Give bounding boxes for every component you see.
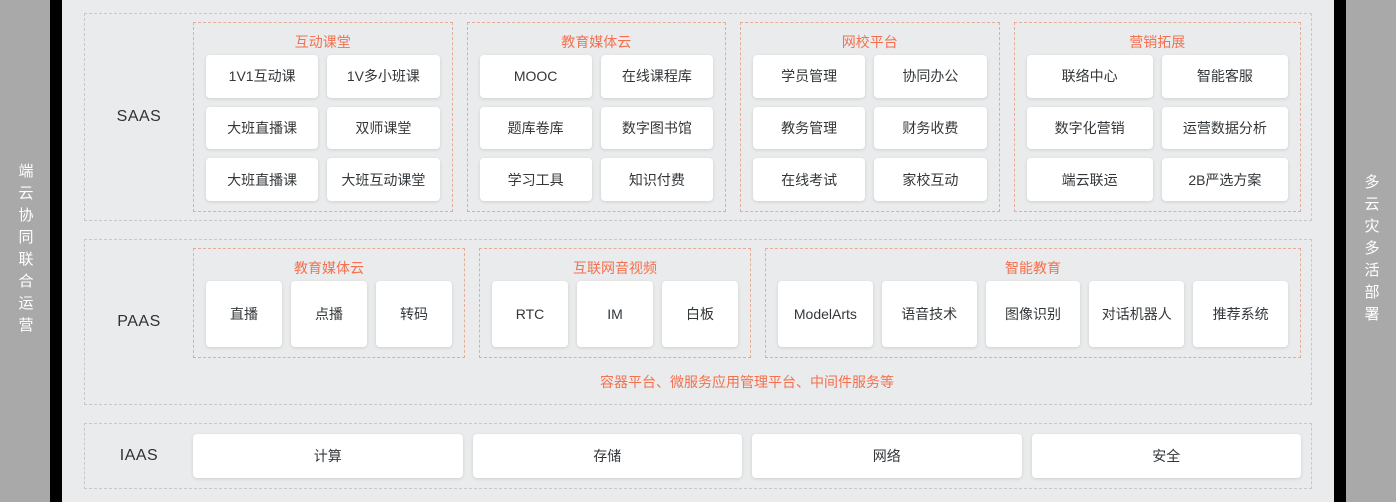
left-rail-divider bbox=[50, 0, 62, 502]
group-title: 教育媒体云 bbox=[206, 255, 452, 281]
tile[interactable]: 白板 bbox=[662, 281, 738, 347]
tile[interactable]: 运营数据分析 bbox=[1162, 107, 1288, 150]
group-education-media-cloud-saas: 教育媒体云 MOOC 在线课程库 题库卷库 数字图书馆 学习工具 知识付费 bbox=[467, 22, 727, 212]
tile[interactable]: 学习工具 bbox=[480, 158, 592, 201]
tile[interactable]: 图像识别 bbox=[986, 281, 1081, 347]
layer-saas-body: 互动课堂 1V1互动课 1V多小班课 大班直播课 双师课堂 大班直播课 大班互动… bbox=[193, 14, 1311, 220]
tile[interactable]: 大班直播课 bbox=[206, 107, 318, 150]
tile-grid: 直播 点播 转码 bbox=[206, 281, 452, 347]
tile[interactable]: 智能客服 bbox=[1162, 55, 1288, 98]
tile[interactable]: 学员管理 bbox=[753, 55, 865, 98]
tile[interactable]: 财务收费 bbox=[874, 107, 986, 150]
layer-saas: SAAS 互动课堂 1V1互动课 1V多小班课 大班直播课 双师课堂 大班直播课… bbox=[84, 13, 1312, 221]
iaas-tile-row: 计算 存储 网络 安全 bbox=[193, 424, 1311, 488]
tile[interactable]: 转码 bbox=[376, 281, 452, 347]
tile-grid: 1V1互动课 1V多小班课 大班直播课 双师课堂 大班直播课 大班互动课堂 bbox=[206, 55, 440, 201]
tile[interactable]: 联络中心 bbox=[1027, 55, 1153, 98]
group-title: 网校平台 bbox=[753, 29, 987, 55]
tile[interactable]: IM bbox=[577, 281, 653, 347]
layer-stack: SAAS 互动课堂 1V1互动课 1V多小班课 大班直播课 双师课堂 大班直播课… bbox=[62, 0, 1334, 502]
tile[interactable]: 对话机器人 bbox=[1089, 281, 1184, 347]
tile[interactable]: 网络 bbox=[752, 434, 1022, 478]
tile[interactable]: 教务管理 bbox=[753, 107, 865, 150]
group-title: 互联网音视频 bbox=[492, 255, 738, 281]
tile[interactable]: 在线课程库 bbox=[601, 55, 713, 98]
right-rail: 多云灾多活部署 bbox=[1346, 0, 1396, 502]
left-rail: 端云协同联合运营 bbox=[0, 0, 50, 502]
layer-iaas-label: IAAS bbox=[85, 424, 193, 488]
paas-group-row: 教育媒体云 直播 点播 转码 互联网音视频 RTC IM 白板 bbox=[193, 240, 1311, 362]
tile-grid: 学员管理 协同办公 教务管理 财务收费 在线考试 家校互动 bbox=[753, 55, 987, 201]
tile[interactable]: 推荐系统 bbox=[1193, 281, 1288, 347]
layer-saas-label: SAAS bbox=[85, 14, 193, 220]
tile-grid: RTC IM 白板 bbox=[492, 281, 738, 347]
tile-grid: MOOC 在线课程库 题库卷库 数字图书馆 学习工具 知识付费 bbox=[480, 55, 714, 201]
tile[interactable]: 2B严选方案 bbox=[1162, 158, 1288, 201]
layer-paas-label: PAAS bbox=[85, 240, 193, 404]
tile[interactable]: 大班直播课 bbox=[206, 158, 318, 201]
tile[interactable]: ModelArts bbox=[778, 281, 873, 347]
tile[interactable]: 数字化营销 bbox=[1027, 107, 1153, 150]
layer-iaas-body: 计算 存储 网络 安全 bbox=[193, 424, 1311, 488]
tile[interactable]: 存储 bbox=[473, 434, 743, 478]
tile[interactable]: 双师课堂 bbox=[327, 107, 439, 150]
tile[interactable]: 题库卷库 bbox=[480, 107, 592, 150]
group-education-media-cloud-paas: 教育媒体云 直播 点播 转码 bbox=[193, 248, 465, 358]
tile[interactable]: 家校互动 bbox=[874, 158, 986, 201]
group-intelligent-education: 智能教育 ModelArts 语音技术 图像识别 对话机器人 推荐系统 bbox=[765, 248, 1301, 358]
tile[interactable]: 计算 bbox=[193, 434, 463, 478]
group-title: 营销拓展 bbox=[1027, 29, 1289, 55]
group-interactive-classroom: 互动课堂 1V1互动课 1V多小班课 大班直播课 双师课堂 大班直播课 大班互动… bbox=[193, 22, 453, 212]
tile[interactable]: 在线考试 bbox=[753, 158, 865, 201]
paas-footnote: 容器平台、微服务应用管理平台、中间件服务等 bbox=[193, 362, 1311, 404]
group-online-school-platform: 网校平台 学员管理 协同办公 教务管理 财务收费 在线考试 家校互动 bbox=[740, 22, 1000, 212]
left-rail-label: 端云协同联合运营 bbox=[18, 163, 33, 339]
tile-grid: ModelArts 语音技术 图像识别 对话机器人 推荐系统 bbox=[778, 281, 1288, 347]
right-rail-label: 多云灾多活部署 bbox=[1364, 174, 1379, 328]
tile[interactable]: 点播 bbox=[291, 281, 367, 347]
tile[interactable]: 知识付费 bbox=[601, 158, 713, 201]
tile[interactable]: 1V多小班课 bbox=[327, 55, 439, 98]
architecture-diagram: 端云协同联合运营 SAAS 互动课堂 1V1互动课 1V多小班课 大班直播课 双… bbox=[0, 0, 1396, 502]
tile[interactable]: 数字图书馆 bbox=[601, 107, 713, 150]
tile[interactable]: RTC bbox=[492, 281, 568, 347]
tile[interactable]: MOOC bbox=[480, 55, 592, 98]
group-marketing-expansion: 营销拓展 联络中心 智能客服 数字化营销 运营数据分析 端云联运 2B严选方案 bbox=[1014, 22, 1302, 212]
layer-iaas: IAAS 计算 存储 网络 安全 bbox=[84, 423, 1312, 489]
group-title: 教育媒体云 bbox=[480, 29, 714, 55]
tile[interactable]: 1V1互动课 bbox=[206, 55, 318, 98]
tile[interactable]: 端云联运 bbox=[1027, 158, 1153, 201]
layer-paas-body: 教育媒体云 直播 点播 转码 互联网音视频 RTC IM 白板 bbox=[193, 240, 1311, 404]
tile[interactable]: 协同办公 bbox=[874, 55, 986, 98]
layer-paas: PAAS 教育媒体云 直播 点播 转码 互联网音视频 RT bbox=[84, 239, 1312, 405]
tile[interactable]: 大班互动课堂 bbox=[327, 158, 439, 201]
tile-grid: 联络中心 智能客服 数字化营销 运营数据分析 端云联运 2B严选方案 bbox=[1027, 55, 1289, 201]
group-title: 互动课堂 bbox=[206, 29, 440, 55]
tile[interactable]: 语音技术 bbox=[882, 281, 977, 347]
group-title: 智能教育 bbox=[778, 255, 1288, 281]
tile[interactable]: 直播 bbox=[206, 281, 282, 347]
tile[interactable]: 安全 bbox=[1032, 434, 1302, 478]
right-rail-divider bbox=[1334, 0, 1346, 502]
group-internet-audio-video: 互联网音视频 RTC IM 白板 bbox=[479, 248, 751, 358]
saas-group-row: 互动课堂 1V1互动课 1V多小班课 大班直播课 双师课堂 大班直播课 大班互动… bbox=[193, 14, 1311, 220]
